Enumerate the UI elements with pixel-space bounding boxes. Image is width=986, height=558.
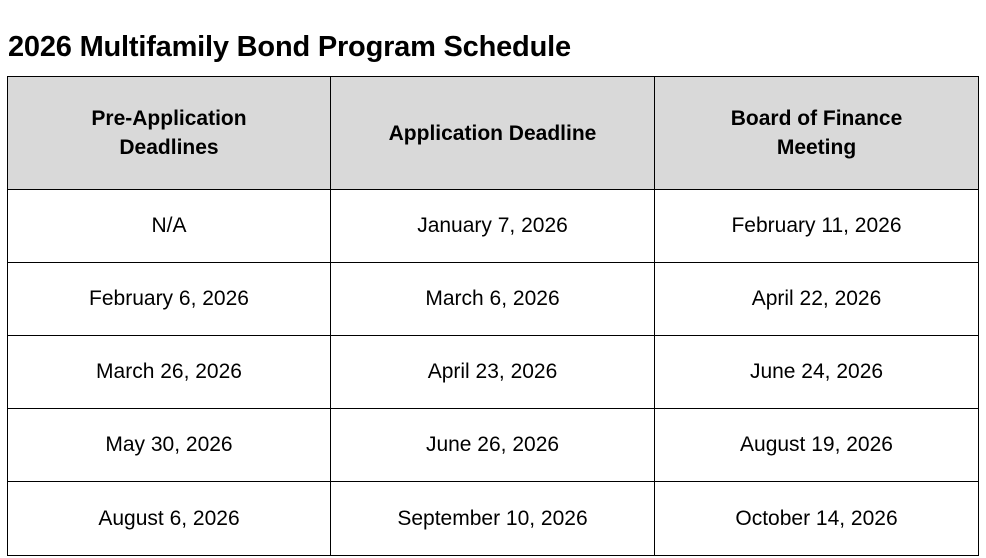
document-page: 2026 Multifamily Bond Program Schedule P… — [0, 0, 986, 558]
cell-board-of-finance-meeting: August 19, 2026 — [655, 409, 979, 482]
page-title: 2026 Multifamily Bond Program Schedule — [8, 27, 968, 67]
cell-pre-application-deadline: March 26, 2026 — [8, 336, 331, 409]
cell-board-of-finance-meeting: February 11, 2026 — [655, 190, 979, 263]
column-header-line-1: Board of Finance — [663, 104, 970, 133]
cell-pre-application-deadline: N/A — [8, 190, 331, 263]
column-header-line-1: Application Deadline — [339, 119, 646, 148]
table-body: N/A January 7, 2026 February 11, 2026 Fe… — [8, 190, 979, 556]
cell-board-of-finance-meeting: October 14, 2026 — [655, 482, 979, 556]
cell-application-deadline: April 23, 2026 — [331, 336, 655, 409]
column-header-application-deadline: Application Deadline — [331, 77, 655, 190]
schedule-table-container: Pre-Application Deadlines Application De… — [7, 76, 978, 556]
table-row: May 30, 2026 June 26, 2026 August 19, 20… — [8, 409, 979, 482]
cell-pre-application-deadline: August 6, 2026 — [8, 482, 331, 556]
table-header-row: Pre-Application Deadlines Application De… — [8, 77, 979, 190]
cell-board-of-finance-meeting: April 22, 2026 — [655, 263, 979, 336]
table-row: March 26, 2026 April 23, 2026 June 24, 2… — [8, 336, 979, 409]
cell-board-of-finance-meeting: June 24, 2026 — [655, 336, 979, 409]
cell-pre-application-deadline: February 6, 2026 — [8, 263, 331, 336]
cell-application-deadline: January 7, 2026 — [331, 190, 655, 263]
column-header-board-of-finance-meeting: Board of Finance Meeting — [655, 77, 979, 190]
bond-program-schedule-table: Pre-Application Deadlines Application De… — [7, 76, 979, 556]
table-row: N/A January 7, 2026 February 11, 2026 — [8, 190, 979, 263]
cell-application-deadline: September 10, 2026 — [331, 482, 655, 556]
column-header-line-1: Pre-Application — [16, 104, 322, 133]
column-header-line-2: Deadlines — [16, 133, 322, 162]
table-row: February 6, 2026 March 6, 2026 April 22,… — [8, 263, 979, 336]
table-row: August 6, 2026 September 10, 2026 Octobe… — [8, 482, 979, 556]
column-header-pre-application-deadlines: Pre-Application Deadlines — [8, 77, 331, 190]
cell-pre-application-deadline: May 30, 2026 — [8, 409, 331, 482]
cell-application-deadline: March 6, 2026 — [331, 263, 655, 336]
cell-application-deadline: June 26, 2026 — [331, 409, 655, 482]
table-header: Pre-Application Deadlines Application De… — [8, 77, 979, 190]
column-header-line-2: Meeting — [663, 133, 970, 162]
